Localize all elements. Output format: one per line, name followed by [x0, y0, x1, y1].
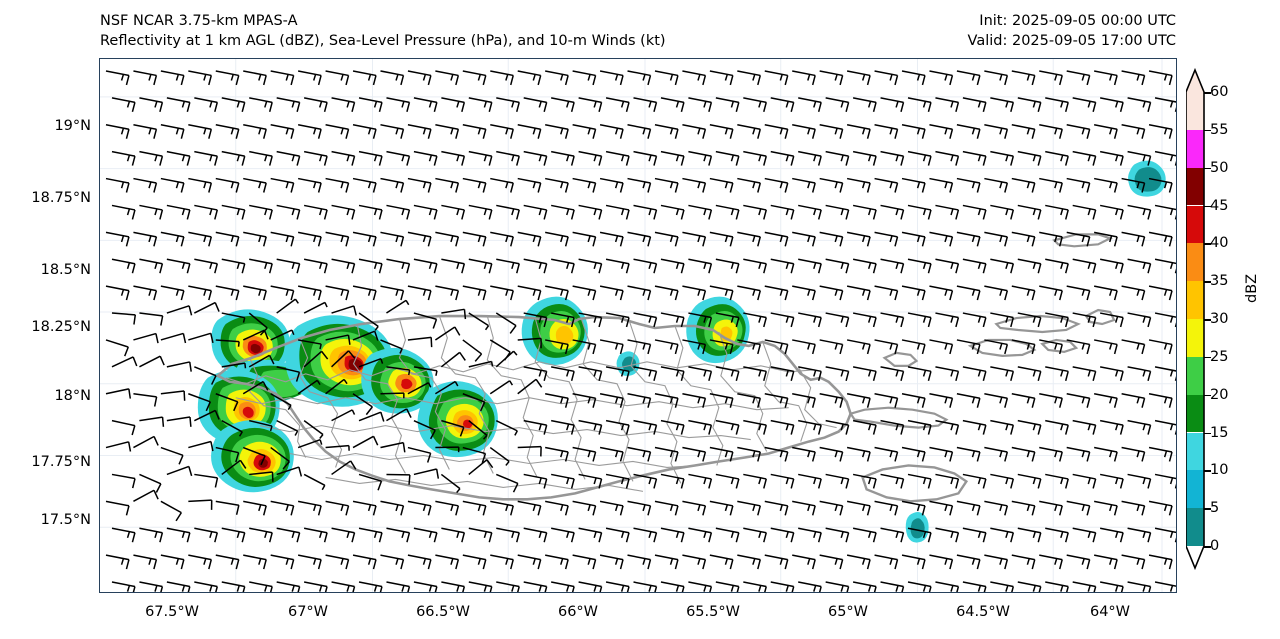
- wind-barb: [826, 582, 849, 592]
- wind-barb: [1045, 367, 1068, 381]
- wind-barb: [628, 232, 651, 246]
- wind-barb: [935, 528, 958, 542]
- wind-barb: [1122, 340, 1145, 354]
- wind-barb: [682, 286, 705, 300]
- wind-barb: [600, 340, 623, 354]
- wind-barb: [716, 421, 739, 435]
- wind-barb: [139, 353, 166, 378]
- wind-barb: [798, 474, 821, 488]
- wind-barb: [963, 421, 986, 435]
- wind-barb: [771, 313, 794, 327]
- wind-barb: [902, 232, 925, 246]
- wind-barb: [1128, 474, 1151, 488]
- wind-barb: [524, 474, 547, 488]
- wind-barb: [1018, 474, 1041, 488]
- wind-barb: [435, 501, 458, 515]
- wind-barb: [847, 125, 870, 139]
- wind-barb: [1149, 125, 1172, 139]
- wind-barb: [435, 125, 458, 139]
- wind-barb: [380, 286, 403, 300]
- wind-barb: [1149, 394, 1172, 408]
- wind-barb: [490, 378, 513, 401]
- wind-barb: [408, 179, 431, 193]
- wind-barb: [157, 501, 183, 521]
- colorbar-ticklabel-10: 10: [1210, 462, 1228, 478]
- wind-barb: [929, 286, 952, 300]
- wind-barb: [524, 421, 547, 435]
- wind-barb: [688, 582, 711, 592]
- wind-barb: [628, 71, 651, 85]
- wind-barb: [881, 152, 904, 166]
- wind-barb: [765, 232, 788, 246]
- wind-barb: [1018, 259, 1041, 273]
- wind-barb: [386, 528, 409, 542]
- wind-barb: [194, 528, 217, 542]
- wind-barb: [1018, 367, 1041, 381]
- wind-barb: [600, 71, 623, 85]
- wind-barb: [655, 232, 678, 246]
- wind-barb: [661, 528, 684, 542]
- wind-barb: [277, 296, 299, 319]
- wind-barb: [1067, 125, 1090, 139]
- wind-barb: [600, 448, 623, 462]
- wind-barb: [628, 555, 651, 569]
- wind-barb: [957, 232, 980, 246]
- wind-barb: [853, 205, 876, 219]
- wind-barb: [710, 125, 733, 139]
- ytick-18N: 18°N: [54, 388, 91, 404]
- wind-barb: [984, 555, 1007, 569]
- wind-barb: [792, 179, 815, 193]
- wind-barb: [1094, 501, 1117, 515]
- wind-barb: [435, 286, 458, 300]
- wind-barb: [929, 501, 952, 515]
- wind-barb: [853, 528, 876, 542]
- wind-barb: [518, 125, 541, 139]
- wind-barb: [167, 528, 190, 542]
- wind-barb: [359, 259, 382, 273]
- wind-barb: [573, 555, 596, 569]
- wind-barb: [441, 98, 464, 112]
- wind-barb: [688, 259, 711, 273]
- colorbar-outline: [1186, 68, 1280, 588]
- init-time-label: Init: 2025-09-05 00:00 UTC: [968, 11, 1176, 31]
- wind-barb: [908, 313, 931, 327]
- wind-barb: [881, 582, 904, 592]
- wind-barb: [222, 259, 245, 273]
- wind-barb: [682, 501, 705, 515]
- wind-barb: [194, 259, 217, 273]
- wind-barb: [737, 501, 760, 515]
- colorbar-ticklabel-25: 25: [1210, 349, 1228, 365]
- wind-barb: [957, 555, 980, 569]
- wind-barb: [1012, 501, 1035, 515]
- wind-barb: [524, 205, 547, 219]
- wind-barb: [249, 582, 272, 592]
- wind-barb: [929, 394, 952, 408]
- wind-barb: [106, 71, 129, 85]
- wind-barb: [1100, 367, 1123, 381]
- wind-barb: [826, 367, 849, 381]
- wind-barb: [167, 582, 190, 592]
- wind-barb: [820, 179, 843, 193]
- wind-barb: [112, 152, 135, 166]
- wind-barb: [1149, 286, 1172, 300]
- wind-barb: [463, 232, 486, 246]
- wind-barb: [661, 98, 684, 112]
- wind-barb: [1122, 286, 1145, 300]
- wind-barb: [1067, 501, 1090, 515]
- wind-barb: [875, 125, 898, 139]
- wind-barb: [518, 179, 541, 193]
- wind-barb: [902, 179, 925, 193]
- wind-barb: [579, 528, 602, 542]
- wind-barb: [167, 205, 190, 219]
- wind-barb: [573, 232, 596, 246]
- wind-barb: [133, 179, 156, 193]
- colorbar-label: dBZ: [1244, 274, 1260, 303]
- wind-barb: [661, 205, 684, 219]
- wind-barb: [655, 340, 678, 354]
- wind-barb: [167, 463, 194, 487]
- wind-barb: [518, 286, 541, 300]
- wind-barb: [380, 232, 403, 246]
- wind-barb: [1094, 555, 1117, 569]
- wind-barb: [579, 98, 602, 112]
- wind-barb: [853, 259, 876, 273]
- wind-barb: [771, 152, 794, 166]
- wind-barb: [1073, 98, 1096, 112]
- wind-barb: [194, 152, 217, 166]
- wind-barb: [606, 152, 629, 166]
- title-right-block: Init: 2025-09-05 00:00 UTC Valid: 2025-0…: [968, 11, 1176, 51]
- wind-barb: [1155, 259, 1176, 273]
- wind-barb: [435, 71, 458, 85]
- wind-barb: [1039, 125, 1062, 139]
- wind-barb: [1012, 71, 1035, 85]
- wind-barb: [167, 302, 194, 325]
- wind-barb: [826, 259, 849, 273]
- wind-barb: [963, 528, 986, 542]
- wind-barb: [112, 421, 135, 435]
- wind-barb: [1018, 582, 1041, 592]
- wind-barb: [167, 259, 190, 273]
- wind-barb: [463, 501, 486, 515]
- wind-barb: [469, 152, 492, 166]
- wind-barb: [771, 582, 794, 592]
- wind-barb: [139, 205, 162, 219]
- wind-barb: [298, 232, 321, 246]
- wind-barb: [902, 125, 925, 139]
- wind-barb: [353, 433, 380, 458]
- wind-barb: [249, 98, 272, 112]
- wind-barb: [792, 555, 815, 569]
- wind-barb: [743, 367, 766, 381]
- wind-barb: [408, 286, 431, 300]
- xtick-64W: 64°W: [1090, 604, 1130, 620]
- wind-barb: [1073, 367, 1096, 381]
- wind-barb: [1100, 259, 1123, 273]
- wind-barb: [792, 448, 815, 462]
- wind-barb: [908, 98, 931, 112]
- wind-barb: [441, 582, 464, 592]
- wind-barb: [682, 232, 705, 246]
- wind-barb: [957, 448, 980, 462]
- wind-barb: [298, 125, 321, 139]
- wind-barb: [1073, 582, 1096, 592]
- wind-barb: [606, 205, 629, 219]
- wind-barb: [441, 205, 464, 219]
- wind-barb: [490, 71, 513, 85]
- wind-barb: [737, 286, 760, 300]
- wind-barb: [606, 98, 629, 112]
- wind-barb: [1094, 179, 1117, 193]
- wind-barb: [820, 125, 843, 139]
- wind-barb: [579, 367, 602, 381]
- wind-barb: [688, 152, 711, 166]
- wind-barb: [771, 474, 794, 488]
- wind-barb: [1018, 528, 1041, 542]
- wind-barb: [435, 232, 458, 246]
- wind-barb: [326, 179, 349, 193]
- wind-barb: [881, 205, 904, 219]
- wind-barb: [792, 232, 815, 246]
- wind-barb: [908, 152, 931, 166]
- wind-barb: [545, 179, 568, 193]
- wind-barb: [929, 125, 952, 139]
- wind-barb: [524, 367, 547, 381]
- wind-barb: [935, 474, 958, 488]
- wind-barb: [716, 98, 739, 112]
- wind-barb: [847, 555, 870, 569]
- wind-barb: [655, 286, 678, 300]
- wind-barb: [963, 367, 986, 381]
- wind-barb: [935, 205, 958, 219]
- wind-barb: [1100, 582, 1123, 592]
- wind-barb: [798, 205, 821, 219]
- colorbar[interactable]: dBZ 051015202530354045505560: [1186, 68, 1280, 588]
- wind-barb-field: [104, 71, 1176, 592]
- wind-barb: [990, 421, 1013, 435]
- wind-barb: [271, 286, 294, 300]
- wind-barb: [249, 205, 272, 219]
- wind-barb: [1012, 179, 1035, 193]
- wind-barb: [600, 179, 623, 193]
- wind-barb: [112, 474, 135, 488]
- wind-barb: [408, 333, 434, 353]
- wind-barb: [743, 528, 766, 542]
- xtick-645W: 64.5°W: [956, 604, 1010, 620]
- colorbar-ticklabel-55: 55: [1210, 122, 1228, 138]
- wind-barb: [332, 458, 358, 484]
- wind-barb: [1149, 501, 1172, 515]
- wind-barb: [963, 152, 986, 166]
- wind-barb: [935, 98, 958, 112]
- xtick-655W: 65.5°W: [686, 604, 740, 620]
- wind-barb: [243, 555, 266, 569]
- wind-barb: [551, 528, 574, 542]
- wind-barb: [1039, 286, 1062, 300]
- wind-barb: [881, 313, 904, 327]
- wind-barb: [249, 152, 272, 166]
- wind-barb: [929, 71, 952, 85]
- wind-barb: [380, 71, 403, 85]
- wind-barb: [579, 259, 602, 273]
- wind-barb: [1067, 71, 1090, 85]
- wind-barb: [935, 582, 958, 592]
- wind-barb: [682, 448, 705, 462]
- wind-barb: [600, 125, 623, 139]
- wind-barb: [881, 421, 904, 435]
- wind-barb: [573, 501, 596, 515]
- wind-barb: [112, 98, 135, 112]
- wind-barb: [518, 71, 541, 85]
- wind-barb: [469, 205, 492, 219]
- wind-barb: [990, 474, 1013, 488]
- wind-barb: [493, 474, 518, 492]
- wind-barb: [716, 205, 739, 219]
- wind-barb: [359, 582, 382, 592]
- wind-barb: [106, 385, 133, 407]
- wind-barb: [1149, 448, 1172, 462]
- wind-barb: [765, 394, 788, 408]
- wind-barb: [298, 179, 321, 193]
- ytick-185N: 18.5°N: [41, 262, 91, 278]
- wind-barb: [792, 340, 815, 354]
- wind-barb: [112, 259, 135, 273]
- wind-barb: [490, 555, 513, 569]
- wind-barb: [1155, 152, 1176, 166]
- wind-barb: [881, 367, 904, 381]
- map-canvas: [100, 59, 1176, 592]
- wind-barb: [133, 392, 157, 407]
- wind-barb: [161, 387, 187, 407]
- wind-barb: [826, 152, 849, 166]
- wind-barb: [820, 394, 843, 408]
- wind-barb: [1012, 232, 1035, 246]
- wind-barb: [1122, 71, 1145, 85]
- wind-barb: [1018, 98, 1041, 112]
- wind-barb: [990, 205, 1013, 219]
- wind-barb: [600, 501, 623, 515]
- wind-barb: [1149, 340, 1172, 354]
- wind-barb: [1128, 582, 1151, 592]
- wind-barb: [579, 205, 602, 219]
- wind-barb: [326, 71, 349, 85]
- wind-barb: [194, 98, 217, 112]
- wind-barb: [1100, 528, 1123, 542]
- wind-barb: [518, 555, 541, 569]
- wind-barb: [112, 353, 139, 378]
- wind-barb: [359, 152, 382, 166]
- wind-barb: [573, 71, 596, 85]
- wind-barb: [957, 71, 980, 85]
- wind-barb: [139, 152, 162, 166]
- wind-barb: [106, 555, 129, 569]
- wind-barb: [463, 555, 486, 569]
- wind-barb: [908, 367, 931, 381]
- wind-barb: [139, 582, 162, 592]
- wind-barb: [984, 71, 1007, 85]
- wind-barb: [820, 555, 843, 569]
- wind-barb: [765, 555, 788, 569]
- wind-barb: [1067, 555, 1090, 569]
- wind-barb: [1155, 421, 1176, 435]
- wind-barb: [984, 232, 1007, 246]
- wind-barb: [414, 259, 437, 273]
- wind-barb: [386, 98, 409, 112]
- wind-barb: [161, 232, 184, 246]
- wind-barb: [359, 98, 382, 112]
- wind-barb: [414, 98, 437, 112]
- xtick-65W: 65°W: [828, 604, 868, 620]
- wind-barb: [661, 152, 684, 166]
- wind-barb: [139, 259, 162, 273]
- wind-barb: [682, 555, 705, 569]
- colorbar-ticklabel-40: 40: [1210, 235, 1228, 251]
- wind-barb: [188, 179, 211, 193]
- wind-barb: [1039, 555, 1062, 569]
- wind-barb: [655, 179, 678, 193]
- ytick-1825N: 18.25°N: [31, 319, 91, 335]
- wind-barb: [792, 286, 815, 300]
- wind-barb: [984, 448, 1007, 462]
- xtick-66W: 66°W: [558, 604, 598, 620]
- wind-barb: [1155, 313, 1176, 327]
- wind-barb: [600, 286, 623, 300]
- colorbar-ticklabel-20: 20: [1210, 387, 1228, 403]
- map-plot-area[interactable]: [99, 58, 1177, 593]
- wind-barb: [1067, 448, 1090, 462]
- wind-barb: [743, 259, 766, 273]
- wind-barb: [139, 98, 162, 112]
- wind-barb: [332, 259, 355, 273]
- wind-barb: [332, 152, 355, 166]
- wind-barb: [243, 286, 266, 300]
- wind-barb: [380, 179, 403, 193]
- wind-barb: [271, 179, 294, 193]
- wind-barb: [765, 179, 788, 193]
- wind-barb: [1018, 205, 1041, 219]
- wind-barb: [579, 582, 602, 592]
- wind-barb: [743, 421, 766, 435]
- wind-barb: [1018, 421, 1041, 435]
- latitude-axis: 19°N 18.75°N 18.5°N 18.25°N 18°N 17.75°N…: [0, 0, 91, 639]
- wind-barb: [935, 259, 958, 273]
- wind-barb: [1073, 528, 1096, 542]
- wind-barb: [545, 555, 568, 569]
- wind-barb: [271, 71, 294, 85]
- wind-barb: [847, 232, 870, 246]
- wind-barb: [902, 394, 925, 408]
- wind-barb: [963, 98, 986, 112]
- wind-barb: [414, 582, 437, 592]
- wind-barb: [1155, 205, 1176, 219]
- wind-barb: [359, 205, 382, 219]
- wind-barb: [881, 98, 904, 112]
- wind-barb: [277, 582, 300, 592]
- wind-barb: [441, 152, 464, 166]
- wind-barb: [792, 125, 815, 139]
- wind-barb: [820, 340, 843, 354]
- wind-barb: [688, 474, 711, 488]
- wind-barb: [908, 474, 931, 488]
- wind-barb: [441, 528, 464, 542]
- wind-barb: [304, 205, 327, 219]
- wind-barb: [957, 286, 980, 300]
- wind-barb: [655, 555, 678, 569]
- wind-barb: [1094, 340, 1117, 354]
